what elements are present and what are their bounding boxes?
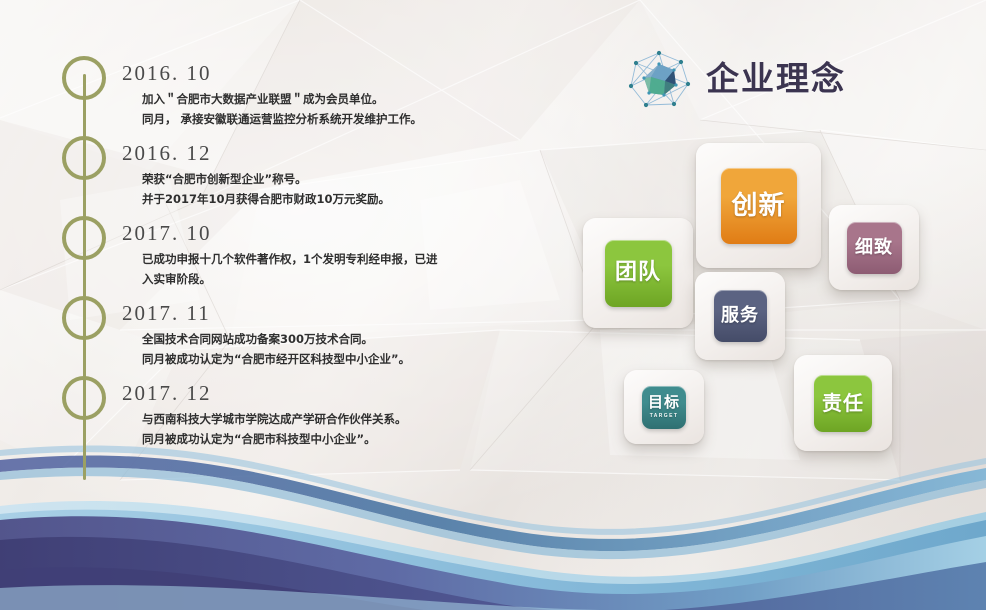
timeline-text-line: 并于2017年10月获得合肥市财政10万元奖励。 [142, 189, 480, 209]
timeline-body: 已成功申报十几个软件著作权，1个发明专利经申报，已进 入实审阶段。 [142, 249, 480, 289]
concept-tile: 细致 [847, 222, 902, 274]
concept-card-service[interactable]: 服务 [695, 272, 785, 360]
timeline-node [62, 216, 106, 260]
slide-canvas: 2016. 10 加入＂合肥市大数据产业联盟＂成为会员单位。 同月， 承接安徽联… [0, 0, 986, 610]
timeline-entry: 2017. 11 全国技术合同网站成功备案300万技术合同。 同月被成功认定为“… [120, 302, 480, 369]
concept-card-team[interactable]: 团队 [583, 218, 693, 328]
timeline-node [62, 136, 106, 180]
timeline-text-line: 同月被成功认定为“合肥市科技型中小企业”。 [142, 429, 480, 449]
timeline-body: 加入＂合肥市大数据产业联盟＂成为会员单位。 同月， 承接安徽联通运营监控分析系统… [142, 89, 480, 129]
concept-tile: 团队 [605, 240, 672, 307]
concept-card-target[interactable]: 目标 TARGET [624, 370, 704, 444]
timeline-node [62, 296, 106, 340]
timeline-year: 2017. 12 [122, 382, 480, 404]
timeline-entry: 2017. 12 与西南科技大学城市学院达成产学研合作伙伴关系。 同月被成功认定… [120, 382, 480, 449]
concept-sublabel: TARGET [650, 413, 679, 419]
timeline-text-line: 入实审阶段。 [142, 269, 480, 289]
concept-card-responsibility[interactable]: 责任 [794, 355, 892, 451]
concept-card-innovation[interactable]: 创新 [696, 143, 821, 268]
concept-tile: 目标 TARGET [642, 386, 686, 429]
timeline: 2016. 10 加入＂合肥市大数据产业联盟＂成为会员单位。 同月， 承接安徽联… [62, 56, 482, 456]
concept-label: 细致 [855, 239, 893, 257]
timeline-text-line: 加入＂合肥市大数据产业联盟＂成为会员单位。 [142, 89, 480, 109]
timeline-text-line: 荣获“合肥市创新型企业”称号。 [142, 169, 480, 189]
concept-label: 责任 [822, 393, 864, 413]
timeline-body: 与西南科技大学城市学院达成产学研合作伙伴关系。 同月被成功认定为“合肥市科技型中… [142, 409, 480, 449]
concept-label: 目标 [648, 395, 680, 410]
page-title: 企业理念 [706, 52, 846, 100]
concept-card-meticulous[interactable]: 细致 [829, 205, 919, 290]
timeline-year: 2017. 10 [122, 222, 480, 244]
timeline-text-line: 全国技术合同网站成功备案300万技术合同。 [142, 329, 480, 349]
concept-tile: 责任 [814, 375, 872, 432]
timeline-node [62, 376, 106, 420]
timeline-entry: 2017. 10 已成功申报十几个软件著作权，1个发明专利经申报，已进 入实审阶… [120, 222, 480, 289]
timeline-text-line: 同月被成功认定为“合肥市经开区科技型中小企业”。 [142, 349, 480, 369]
timeline-entry: 2016. 10 加入＂合肥市大数据产业联盟＂成为会员单位。 同月， 承接安徽联… [120, 62, 480, 129]
headline: 企业理念 [624, 48, 884, 110]
polyhedron-network-icon [624, 48, 694, 114]
concept-label: 团队 [615, 262, 661, 284]
timeline-year: 2016. 12 [122, 142, 480, 164]
concept-tile: 创新 [721, 168, 797, 244]
concept-label: 创新 [731, 193, 785, 219]
timeline-text-line: 已成功申报十几个软件著作权，1个发明专利经申报，已进 [142, 249, 480, 269]
timeline-year: 2016. 10 [122, 62, 480, 84]
timeline-axis-tail [83, 420, 86, 480]
timeline-text-line: 同月， 承接安徽联通运营监控分析系统开发维护工作。 [142, 109, 480, 129]
timeline-body: 全国技术合同网站成功备案300万技术合同。 同月被成功认定为“合肥市经开区科技型… [142, 329, 480, 369]
timeline-body: 荣获“合肥市创新型企业”称号。 并于2017年10月获得合肥市财政10万元奖励。 [142, 169, 480, 209]
concept-label: 服务 [721, 307, 759, 325]
concept-tile: 服务 [714, 290, 767, 342]
timeline-entry: 2016. 12 荣获“合肥市创新型企业”称号。 并于2017年10月获得合肥市… [120, 142, 480, 209]
timeline-text-line: 与西南科技大学城市学院达成产学研合作伙伴关系。 [142, 409, 480, 429]
timeline-year: 2017. 11 [122, 302, 480, 324]
timeline-node [62, 56, 106, 100]
